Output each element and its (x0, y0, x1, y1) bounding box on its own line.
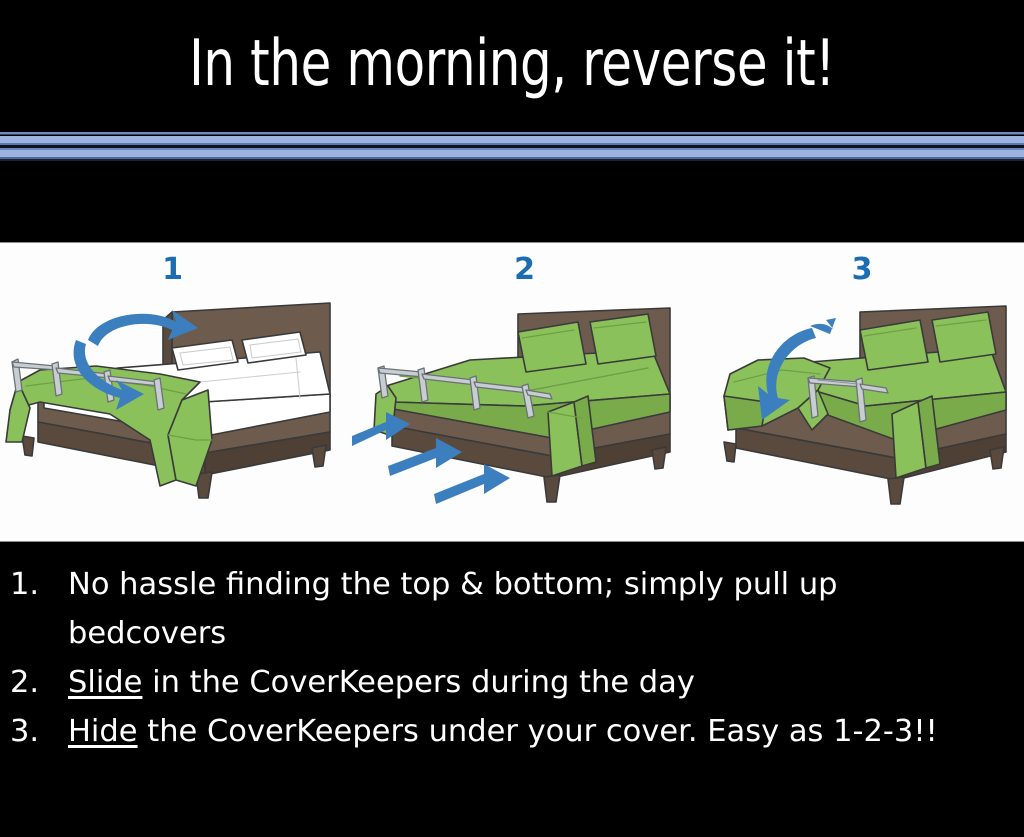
bullet-marker-3: 3. (10, 707, 68, 756)
title-area: In the morning, reverse it! (0, 0, 1024, 128)
bullet-rest-3: the CoverKeepers under your cover. Easy … (138, 714, 938, 749)
bullet-list: 1. No hassle finding the top & bottom; s… (0, 560, 1024, 756)
divider-line-7 (0, 150, 1024, 157)
slide-root: In the morning, reverse it! 1 (0, 0, 1024, 837)
illustration-step-3: 3 (700, 242, 1024, 542)
list-item: 1. No hassle finding the top & bottom; s… (0, 560, 1024, 658)
divider-stripes (0, 128, 1024, 164)
bullet-text-2: Slide in the CoverKeepers during the day (68, 658, 1024, 707)
step-number-1: 1 (0, 255, 345, 285)
divider-line-9 (0, 159, 1024, 161)
bed-illustration-1 (0, 290, 345, 540)
divider-line-3 (0, 136, 1024, 143)
divider-line-2 (0, 134, 1024, 135)
page-title: In the morning, reverse it! (189, 32, 835, 96)
bullet-emphasis-hide: Hide (68, 714, 138, 749)
bullet-marker-1: 1. (10, 560, 68, 609)
list-item: 3. Hide the CoverKeepers under your cove… (0, 707, 1024, 756)
step-number-2: 2 (352, 255, 697, 285)
bullet-marker-2: 2. (10, 658, 68, 707)
illustration-step-2: 2 (352, 242, 697, 542)
illustration-step-1: 1 (0, 242, 345, 542)
bullet-emphasis-slide: Slide (68, 665, 142, 700)
bullet-text-3: Hide the CoverKeepers under your cover. … (68, 707, 1024, 756)
step-number-3: 3 (700, 255, 1024, 285)
bed-illustration-2 (352, 290, 697, 540)
bullet-rest-2: in the CoverKeepers during the day (142, 665, 694, 700)
list-item: 2. Slide in the CoverKeepers during the … (0, 658, 1024, 707)
bed-illustration-3 (700, 290, 1024, 540)
bullet-text-1: No hassle finding the top & bottom; simp… (68, 560, 1024, 658)
illustration-band: 1 (0, 242, 1024, 542)
